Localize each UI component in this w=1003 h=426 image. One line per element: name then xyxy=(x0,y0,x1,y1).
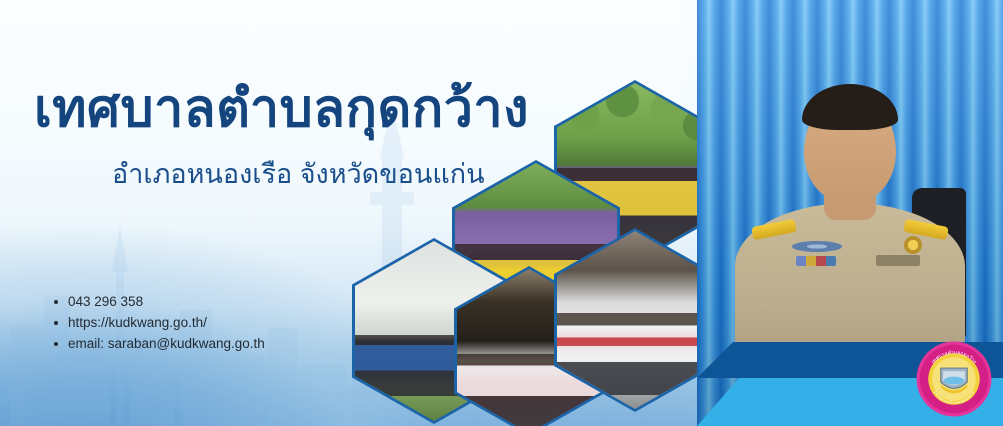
page-subtitle: อำเภอหนองเรือ จังหวัดขอนแก่น xyxy=(112,158,485,190)
contact-email: email: saraban@kudkwang.go.th xyxy=(68,336,265,351)
municipal-seal[interactable]: เทศบาลตำบลกุดกว้าง อำเภอหนองเรือ จังหวัด… xyxy=(915,340,993,418)
list-item[interactable]: https://kudkwang.go.th/ xyxy=(52,312,265,333)
list-item[interactable]: 043 296 358 xyxy=(52,291,265,312)
contact-phone: 043 296 358 xyxy=(68,294,143,309)
medal-icon xyxy=(904,236,922,254)
page-title: เทศบาลตำบลกุดกว้าง xyxy=(34,82,529,137)
hair xyxy=(802,84,898,130)
ribbon-bar-icon xyxy=(796,256,836,266)
contact-website: https://kudkwang.go.th/ xyxy=(68,315,207,330)
municipal-banner: เทศบาลตำบลกุดกว้าง อำเภอหนองเรือ จังหวัด… xyxy=(0,0,1003,426)
nameplate xyxy=(876,255,920,266)
official-figure xyxy=(730,78,970,378)
contact-list: 043 296 358 https://kudkwang.go.th/ emai… xyxy=(52,291,265,354)
wing-insignia-icon xyxy=(792,241,842,252)
list-item[interactable]: email: saraban@kudkwang.go.th xyxy=(52,333,265,354)
